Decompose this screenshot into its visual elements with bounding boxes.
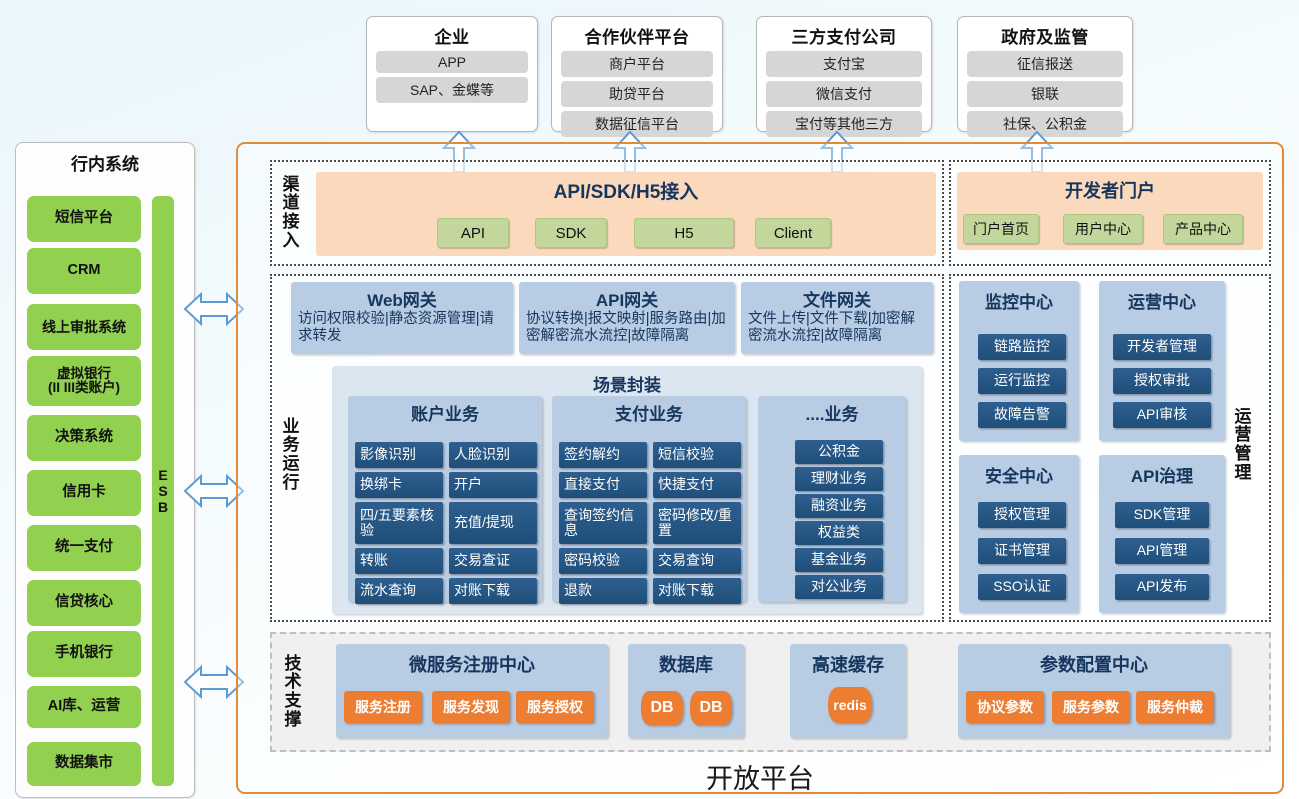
- bank-item-label: 统一支付: [55, 540, 113, 555]
- chip-label: 密码校验: [564, 553, 620, 568]
- gateway-file[interactable]: 文件网关 文件上传|文件下载|加密解密流水流控|故障隔离: [741, 282, 933, 354]
- other-chip-fund-business[interactable]: 基金业务: [795, 548, 883, 572]
- api-governance-chip-api-publish[interactable]: API发布: [1115, 574, 1209, 600]
- chip-label: 对公业务: [811, 579, 867, 594]
- access-chip-api[interactable]: API: [437, 218, 509, 248]
- portal-chip-user-center[interactable]: 用户中心: [1063, 214, 1143, 244]
- bank-item-virtual-bank[interactable]: 虚拟银行 (II III类账户): [27, 356, 141, 406]
- bank-item-label: 信贷核心: [55, 595, 113, 610]
- cache-icon-redis[interactable]: redis: [828, 687, 872, 723]
- account-chip-transaction-verify[interactable]: 交易查证: [449, 548, 537, 574]
- gateway-desc: 协议转换|报文映射|服务路由|加密解密流水流控|故障隔离: [519, 311, 735, 345]
- bank-item-ai-operations[interactable]: AI库、运营: [27, 686, 141, 728]
- bank-item-data-mart[interactable]: 数据集市: [27, 742, 141, 786]
- other-chip-rights[interactable]: 权益类: [795, 521, 883, 545]
- bank-item-crm[interactable]: CRM: [27, 248, 141, 294]
- account-chip-face-recognition[interactable]: 人脸识别: [449, 442, 537, 468]
- actor-card-third-party-payment[interactable]: 三方支付公司 支付宝 微信支付 宝付等其他三方: [756, 16, 932, 132]
- account-chip-open-account[interactable]: 开户: [449, 472, 537, 498]
- platform-bottom-title: 开放平台: [236, 757, 1284, 793]
- center-title: API治理: [1099, 455, 1225, 487]
- actor-title: 政府及监管: [1001, 23, 1089, 48]
- account-chip-statement-download[interactable]: 对账下载: [449, 578, 537, 604]
- chip-label: 开户: [454, 477, 482, 492]
- actor-item[interactable]: 微信支付: [766, 81, 922, 107]
- operations-chip-api-review[interactable]: API审核: [1113, 402, 1211, 428]
- channel-label-c3: 接: [283, 213, 300, 232]
- scene-title: ....业务: [758, 396, 906, 425]
- center-title: 安全中心: [959, 455, 1079, 487]
- other-chip-corporate-business[interactable]: 对公业务: [795, 575, 883, 599]
- chip-label: 密码修改/重置: [658, 508, 741, 539]
- chip-label: 短信校验: [658, 447, 714, 462]
- other-chip-financing[interactable]: 融资业务: [795, 494, 883, 518]
- bank-item-label: 虚拟银行 (II III类账户): [48, 367, 120, 395]
- chip-label: 开发者管理: [1127, 339, 1197, 354]
- actor-card-partner-platform[interactable]: 合作伙伴平台 商户平台 助贷平台 数据征信平台: [551, 16, 723, 132]
- registry-chip-service-register[interactable]: 服务注册: [344, 691, 422, 723]
- chip-label: 融资业务: [811, 498, 867, 513]
- actor-item[interactable]: 征信报送: [967, 51, 1123, 77]
- database-icon-db1[interactable]: DB: [641, 691, 683, 725]
- db-label: DB: [699, 699, 722, 717]
- api-sdk-h5-access-box: API/SDK/H5接入: [316, 172, 936, 256]
- tech-group-title: 参数配置中心: [958, 644, 1230, 677]
- chip-label: SSO认证: [993, 579, 1051, 594]
- security-chip-authorization-management[interactable]: 授权管理: [978, 502, 1066, 528]
- account-chip-element-verification[interactable]: 四/五要素核验: [355, 502, 443, 544]
- access-chip-h5[interactable]: H5: [634, 218, 734, 248]
- registry-chip-service-authorization[interactable]: 服务授权: [516, 691, 594, 723]
- tech-label-c2: 术: [285, 673, 302, 692]
- bank-panel-title: 行内系统: [16, 150, 194, 175]
- account-chip-rebind-card[interactable]: 换绑卡: [355, 472, 443, 498]
- chip-label: 转账: [360, 553, 388, 568]
- bank-item-unified-payment[interactable]: 统一支付: [27, 525, 141, 571]
- access-chip-client[interactable]: Client: [755, 218, 831, 248]
- operation-label-c1: 运: [1235, 408, 1252, 427]
- actor-title: 企业: [435, 23, 470, 48]
- payment-chip-password-change-reset[interactable]: 密码修改/重置: [653, 502, 741, 544]
- chip-label: API管理: [1137, 543, 1188, 558]
- gateway-desc: 访问权限校验|静态资源管理|请求转发: [291, 311, 513, 345]
- chip-label: 签约解约: [564, 447, 620, 462]
- bank-item-credit-card[interactable]: 信用卡: [27, 470, 141, 516]
- chip-label: 协议参数: [977, 697, 1033, 717]
- portal-chip-label: 用户中心: [1075, 219, 1131, 239]
- channel-label-c2: 道: [283, 194, 300, 213]
- chip-label: 理财业务: [811, 471, 867, 486]
- payment-chip-transaction-query[interactable]: 交易查询: [653, 548, 741, 574]
- chip-label: 服务仲裁: [1147, 697, 1203, 717]
- gateway-web[interactable]: Web网关 访问权限校验|静态资源管理|请求转发: [291, 282, 513, 354]
- chip-label: 换绑卡: [360, 477, 402, 492]
- security-chip-certificate-management[interactable]: 证书管理: [978, 538, 1066, 564]
- center-title: 监控中心: [959, 281, 1079, 313]
- account-chip-recharge-withdraw[interactable]: 充值/提现: [449, 502, 537, 544]
- channel-label-c1: 渠: [283, 176, 300, 195]
- business-label-c3: 运: [283, 455, 300, 474]
- chip-label: 对账下载: [658, 583, 714, 598]
- tech-group-title: 数据库: [628, 644, 744, 677]
- business-label-c2: 务: [283, 436, 300, 455]
- chip-label: 服务授权: [527, 697, 583, 717]
- access-chip-label: API: [461, 225, 485, 242]
- account-chip-statement-query[interactable]: 流水查询: [355, 578, 443, 604]
- chip-label: 对账下载: [454, 583, 510, 598]
- chip-label: 影像识别: [360, 447, 416, 462]
- actor-card-government-regulator[interactable]: 政府及监管 征信报送 银联 社保、公积金: [957, 16, 1133, 132]
- tech-label-c1: 技: [285, 655, 302, 674]
- gateway-title: API网关: [519, 286, 735, 311]
- gateway-title: Web网关: [291, 286, 513, 311]
- actor-item[interactable]: SAP、金蝶等: [376, 77, 528, 103]
- access-chip-label: SDK: [556, 225, 587, 242]
- chip-label: 服务发现: [443, 697, 499, 717]
- bank-item-label: AI库、运营: [48, 699, 121, 714]
- bank-item-sms-platform[interactable]: 短信平台: [27, 196, 141, 242]
- portal-chip-product-center[interactable]: 产品中心: [1163, 214, 1243, 244]
- esb-bus: E S B: [152, 196, 174, 786]
- chip-label: 流水查询: [360, 583, 416, 598]
- chip-label: 授权管理: [994, 507, 1050, 522]
- actor-title: 合作伙伴平台: [585, 23, 690, 48]
- monitoring-chip-fault-alarm[interactable]: 故障告警: [978, 402, 1066, 428]
- chip-label: 充值/提现: [454, 515, 514, 530]
- actor-item[interactable]: 支付宝: [766, 51, 922, 77]
- scene-title: 账户业务: [348, 396, 542, 425]
- bank-item-online-approval[interactable]: 线上审批系统: [27, 304, 141, 350]
- api-governance-chip-sdk-management[interactable]: SDK管理: [1115, 502, 1209, 528]
- bank-item-label: 数据集市: [55, 756, 113, 771]
- payment-chip-quick-pay[interactable]: 快捷支付: [653, 472, 741, 498]
- chip-label: 退款: [564, 583, 592, 598]
- actor-item[interactable]: 商户平台: [561, 51, 713, 77]
- database-icon-db2[interactable]: DB: [690, 691, 732, 725]
- payment-chip-statement-download[interactable]: 对账下载: [653, 578, 741, 604]
- db-label: DB: [650, 699, 673, 717]
- config-chip-service-parameters[interactable]: 服务参数: [1052, 691, 1130, 723]
- account-chip-transfer[interactable]: 转账: [355, 548, 443, 574]
- actor-item[interactable]: 银联: [967, 81, 1123, 107]
- tech-group-title: 高速缓存: [790, 644, 906, 677]
- chip-label: 基金业务: [811, 552, 867, 567]
- bank-item-decision-system[interactable]: 决策系统: [27, 415, 141, 461]
- operations-chip-developer-management[interactable]: 开发者管理: [1113, 334, 1211, 360]
- chip-label: 授权审批: [1134, 373, 1190, 388]
- operations-chip-authorization-approval[interactable]: 授权审批: [1113, 368, 1211, 394]
- operation-management-side-label: 运 营 管 理: [1228, 390, 1258, 500]
- payment-chip-sign-unsign[interactable]: 签约解约: [559, 442, 647, 468]
- bank-item-label: 决策系统: [55, 430, 113, 445]
- actor-item[interactable]: 助贷平台: [561, 81, 713, 107]
- gateway-desc: 文件上传|文件下载|加密解密流水流控|故障隔离: [741, 311, 933, 345]
- chip-label: 证书管理: [994, 543, 1050, 558]
- monitoring-chip-link-monitoring[interactable]: 链路监控: [978, 334, 1066, 360]
- bank-item-mobile-bank[interactable]: 手机银行: [27, 631, 141, 677]
- business-label-c4: 行: [283, 474, 300, 493]
- esb-label-e: E: [158, 467, 167, 483]
- chip-label: 故障告警: [994, 407, 1050, 422]
- chip-label: 人脸识别: [454, 447, 510, 462]
- gateway-api[interactable]: API网关 协议转换|报文映射|服务路由|加密解密流水流控|故障隔离: [519, 282, 735, 354]
- chip-label: 交易查证: [454, 553, 510, 568]
- other-chip-housing-fund[interactable]: 公积金: [795, 440, 883, 464]
- payment-chip-refund[interactable]: 退款: [559, 578, 647, 604]
- payment-chip-query-sign-info[interactable]: 查询签约信息: [559, 502, 647, 544]
- bank-item-label: 短信平台: [55, 211, 113, 226]
- chip-label: API发布: [1137, 579, 1188, 594]
- chip-label: 权益类: [818, 525, 860, 540]
- portal-chip-home[interactable]: 门户首页: [963, 214, 1039, 244]
- channel-label-c4: 入: [283, 232, 300, 251]
- chip-label: 服务参数: [1063, 697, 1119, 717]
- tech-label-c3: 支: [285, 692, 302, 711]
- chip-label: 交易查询: [658, 553, 714, 568]
- bank-item-credit-core[interactable]: 信贷核心: [27, 580, 141, 626]
- other-chip-wealth-management[interactable]: 理财业务: [795, 467, 883, 491]
- actor-title: 三方支付公司: [792, 23, 897, 48]
- chip-label: 快捷支付: [658, 477, 714, 492]
- operation-label-c2: 营: [1235, 426, 1252, 445]
- portal-chip-label: 门户首页: [973, 219, 1029, 239]
- business-running-side-label: 业 务 运 行: [276, 400, 306, 510]
- bank-item-label: 线上审批系统: [42, 320, 126, 335]
- payment-chip-password-verify[interactable]: 密码校验: [559, 548, 647, 574]
- center-title: 运营中心: [1099, 281, 1225, 313]
- operation-label-c4: 理: [1235, 464, 1252, 483]
- chip-label: 直接支付: [564, 477, 620, 492]
- api-sdk-h5-access-title: API/SDK/H5接入: [316, 172, 936, 204]
- developer-portal-title: 开发者门户: [957, 172, 1263, 203]
- chip-label: 服务注册: [355, 697, 411, 717]
- chip-label: 运行监控: [994, 373, 1050, 388]
- bank-item-label: CRM: [67, 263, 100, 278]
- redis-label: redis: [833, 697, 866, 713]
- tech-label-c4: 撑: [285, 711, 302, 730]
- esb-label-s: S: [158, 483, 167, 499]
- tech-group-title: 微服务注册中心: [336, 644, 608, 677]
- config-chip-service-arbitration[interactable]: 服务仲裁: [1136, 691, 1214, 723]
- esb-label-b: B: [158, 499, 168, 515]
- channel-access-side-label: 渠 道 接 入: [276, 164, 306, 262]
- business-label-c1: 业: [283, 418, 300, 437]
- scene-title: 支付业务: [552, 396, 746, 425]
- account-chip-image-recognition[interactable]: 影像识别: [355, 442, 443, 468]
- payment-chip-sms-verify[interactable]: 短信校验: [653, 442, 741, 468]
- config-chip-protocol-parameters[interactable]: 协议参数: [966, 691, 1044, 723]
- chip-label: 查询签约信息: [564, 508, 647, 539]
- payment-chip-direct-pay[interactable]: 直接支付: [559, 472, 647, 498]
- chip-label: 链路监控: [994, 339, 1050, 354]
- access-chip-label: H5: [674, 225, 693, 242]
- chip-label: 四/五要素核验: [360, 508, 443, 539]
- registry-chip-service-discovery[interactable]: 服务发现: [432, 691, 510, 723]
- security-chip-sso-authentication[interactable]: SSO认证: [978, 574, 1066, 600]
- scene-encapsulation-title: 场景封装: [332, 366, 922, 396]
- access-chip-sdk[interactable]: SDK: [535, 218, 607, 248]
- operation-label-c3: 管: [1235, 445, 1252, 464]
- bank-item-label: 信用卡: [62, 485, 106, 500]
- actor-item[interactable]: APP: [376, 51, 528, 73]
- chip-label: 公积金: [818, 444, 860, 459]
- monitoring-chip-runtime-monitoring[interactable]: 运行监控: [978, 368, 1066, 394]
- api-governance-chip-api-management[interactable]: API管理: [1115, 538, 1209, 564]
- chip-label: API审核: [1137, 407, 1188, 422]
- access-chip-label: Client: [774, 225, 812, 242]
- actor-card-enterprise[interactable]: 企业 APP SAP、金蝶等: [366, 16, 538, 132]
- gateway-title: 文件网关: [741, 286, 933, 311]
- technical-support-side-label: 技 术 支 撑: [278, 640, 308, 744]
- portal-chip-label: 产品中心: [1175, 219, 1231, 239]
- bank-item-label: 手机银行: [55, 646, 113, 661]
- chip-label: SDK管理: [1134, 507, 1191, 522]
